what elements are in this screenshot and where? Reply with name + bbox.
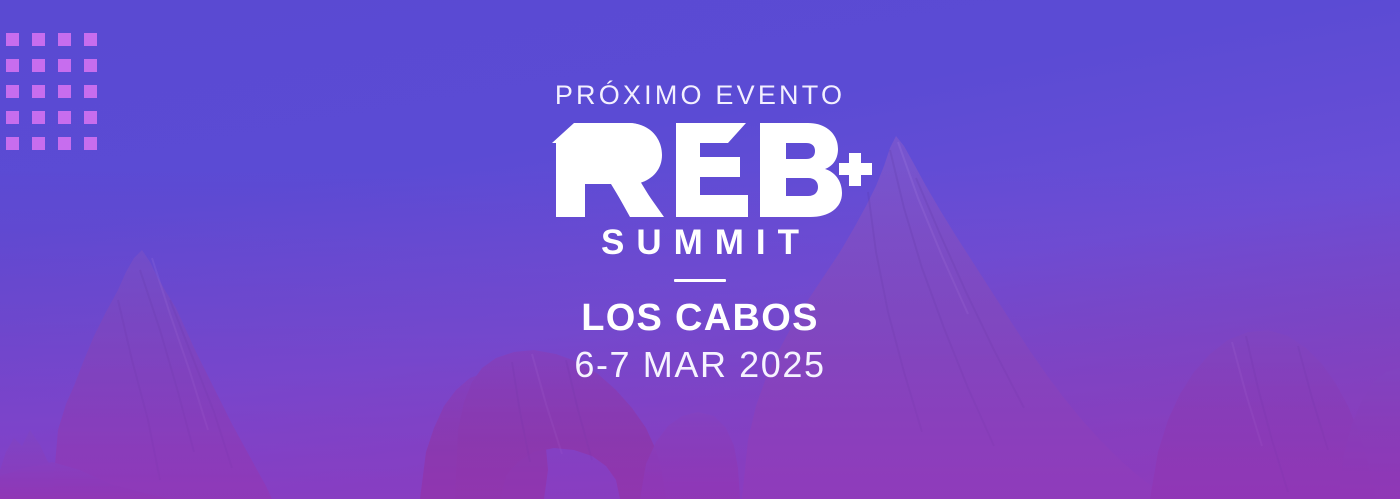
banner-content: PRÓXIMO EVENTO xyxy=(0,0,1400,499)
section-divider xyxy=(674,279,726,282)
plus-icon xyxy=(839,153,872,186)
event-city: LOS CABOS xyxy=(581,299,819,337)
reb-plus-logo xyxy=(550,121,850,219)
event-dates: 6-7 MAR 2025 xyxy=(574,347,825,383)
event-kicker: PRÓXIMO EVENTO xyxy=(555,82,845,109)
logo-subtitle: SUMMIT xyxy=(589,225,811,260)
reb-plus-logo-mark xyxy=(550,121,850,219)
event-banner: PRÓXIMO EVENTO xyxy=(0,0,1400,499)
